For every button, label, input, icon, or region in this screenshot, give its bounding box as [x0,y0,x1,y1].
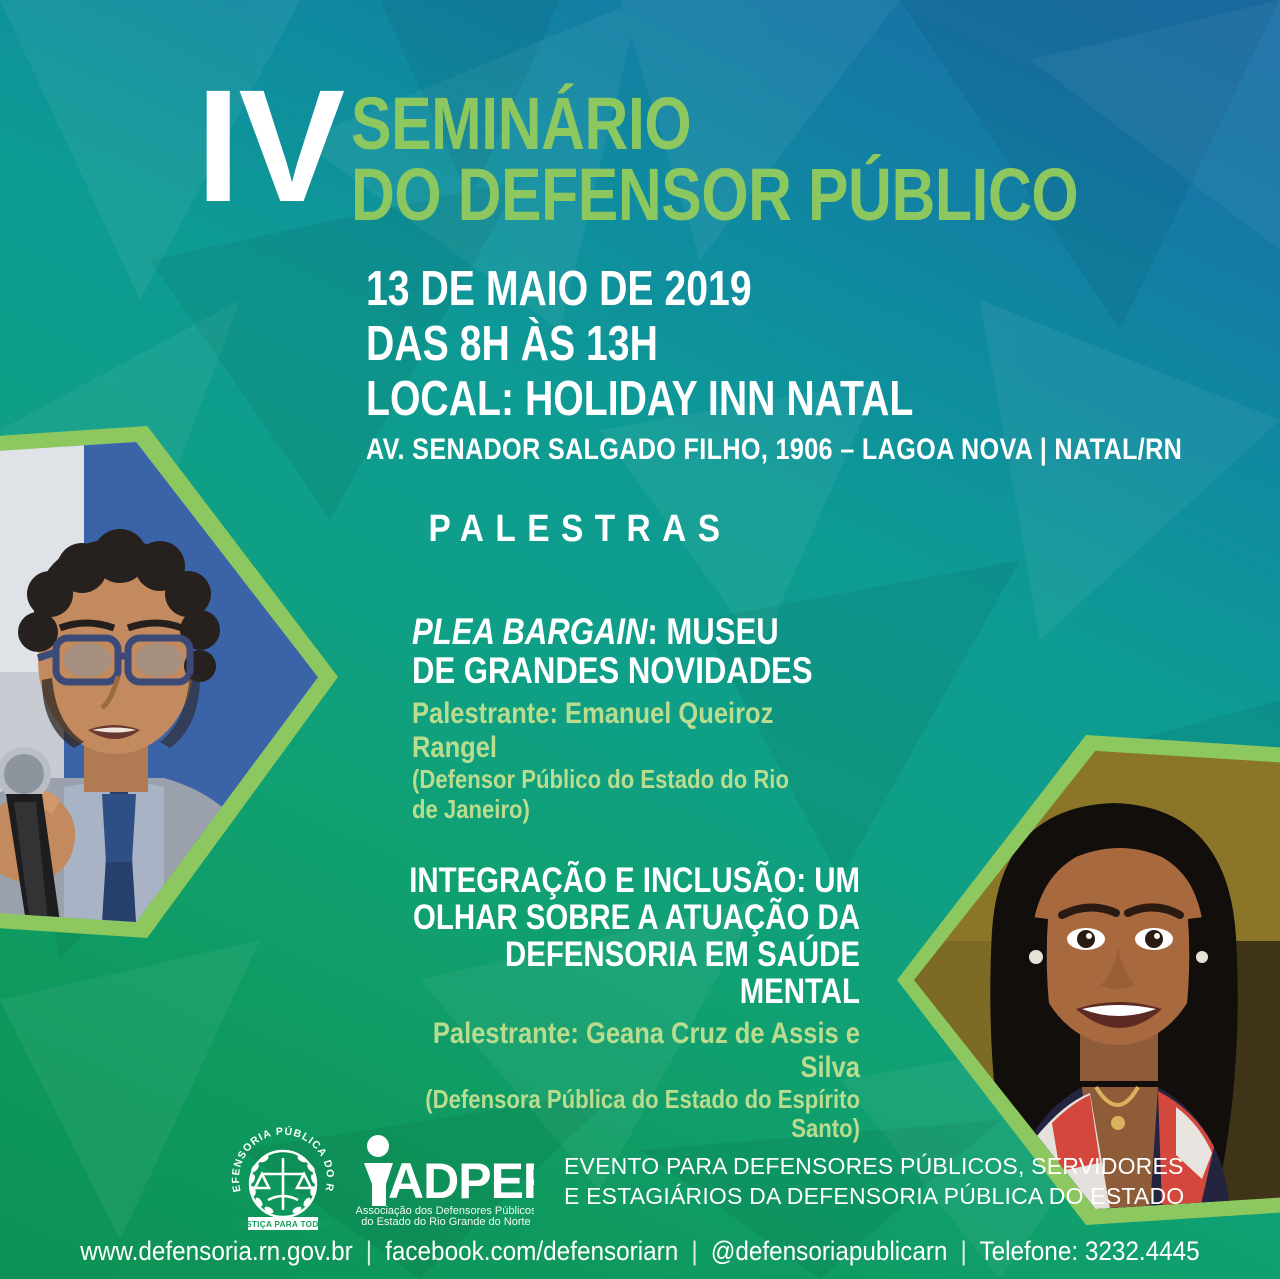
photo-clip-left [0,442,318,922]
event-poster: IV SEMINÁRIO DO DEFENSOR PÚBLICO 13 DE M… [0,0,1280,1279]
edition-numeral: IV [196,72,343,219]
event-date: 13 DE MAIO DE 2019 [366,262,1143,317]
footer-note-line-2: E ESTAGIÁRIOS DA DEFENSORIA PÚBLICA DO E… [564,1182,1184,1212]
contact-separator-1: | [359,1236,378,1266]
lecture-title-emphasis-1: PLEA BARGAIN [412,611,647,652]
footer-audience-note: EVENTO PARA DEFENSORES PÚBLICOS, SERVIDO… [564,1152,1184,1212]
lecture-item-2: INTEGRAÇÃO E INCLUSÃO: UM OLHAR SOBRE A … [290,862,860,1144]
defensoria-seal-logo: DEFENSORIA PÚBLICA DO RN [228,1126,338,1234]
contact-instagram[interactable]: @defensoriapublicarn [711,1236,948,1266]
footer-logos: DEFENSORIA PÚBLICA DO RN [228,1126,534,1234]
contact-bar: www.defensoria.rn.gov.br | facebook.com/… [64,1236,1216,1267]
event-details: 13 DE MAIO DE 2019 DAS 8H ÀS 13H LOCAL: … [366,262,1280,470]
event-address: AV. SENADOR SALGADO FILHO, 1906 – LAGOA … [366,430,1182,471]
headline-line-2: DO DEFENSOR PÚBLICO [351,159,1078,230]
photo-clip-right [914,751,1280,1209]
event-venue: LOCAL: HOLIDAY INN NATAL [366,372,1143,427]
adpern-tagline-line2: do Estado do Rio Grande do Norte [361,1216,530,1228]
lecture-affiliation-1: (Defensor Público do Estado do Rio de Ja… [412,765,820,825]
event-time: DAS 8H ÀS 13H [366,317,1143,372]
adpern-wordmark: ADPERN [388,1153,534,1209]
lecture-speaker-1: Palestrante: Emanuel Queiroz Rangel [412,697,820,764]
contact-website[interactable]: www.defensoria.rn.gov.br [80,1236,352,1266]
poster-headline: IV SEMINÁRIO DO DEFENSOR PÚBLICO [196,72,1238,230]
seal-banner-text: JUSTIÇA PARA TODOS [235,1220,331,1229]
photo-illustration-geana [914,751,1280,1209]
speaker-photo-emanuel [0,426,338,938]
lecture-title-2: INTEGRAÇÃO E INCLUSÃO: UM OLHAR SOBRE A … [381,862,860,1010]
lecture-title-1: PLEA BARGAIN: MUSEU DE GRANDES NOVIDADES [412,612,815,690]
lectures-heading: PALESTRAS [404,508,756,551]
headline-lines: SEMINÁRIO DO DEFENSOR PÚBLICO [351,88,1238,230]
contact-facebook[interactable]: facebook.com/defensoriarn [385,1236,678,1266]
lecture-item-1: PLEA BARGAIN: MUSEU DE GRANDES NOVIDADES… [412,612,892,824]
footer-note-line-1: EVENTO PARA DEFENSORES PÚBLICOS, SERVIDO… [564,1152,1184,1182]
adpern-figure-head [367,1135,389,1157]
contact-separator-3: | [954,1236,973,1266]
photo-illustration-emanuel [0,442,318,922]
adpern-logo: ADPERN Associação dos Defensores Público… [356,1132,534,1228]
lecture-speaker-2: Palestrante: Geana Cruz de Assis e Silva [376,1017,861,1084]
headline-line-1: SEMINÁRIO [351,88,1078,159]
contact-separator-2: | [685,1236,704,1266]
contact-phone: Telefone: 3232.4445 [979,1236,1199,1266]
